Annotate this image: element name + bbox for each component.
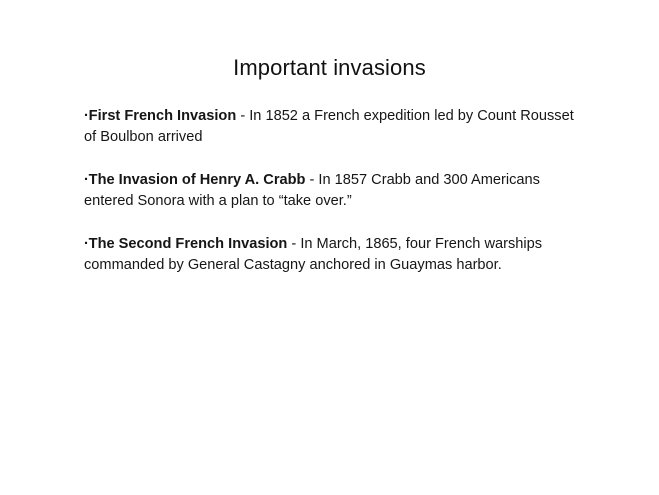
list-item-lead: The Second French Invasion (89, 236, 288, 252)
presentation-slide: Important invasions ·First French Invasi… (0, 0, 659, 495)
list-item: ·The Invasion of Henry A. Crabb - In 185… (84, 170, 576, 212)
list-item: ·First French Invasion - In 1852 a Frenc… (84, 106, 576, 148)
list-item: ·The Second French Invasion - In March, … (84, 234, 576, 276)
list-item-lead: First French Invasion (89, 108, 237, 124)
list-item-lead: The Invasion of Henry A. Crabb (89, 172, 306, 188)
page-title: Important invasions (0, 55, 659, 81)
bullet-list: ·First French Invasion - In 1852 a Frenc… (84, 106, 576, 276)
